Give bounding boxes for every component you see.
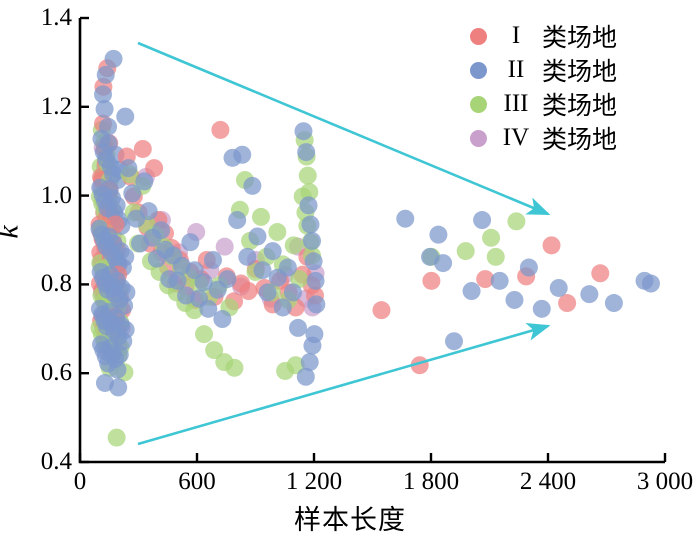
legend-roman-numeral: IV bbox=[498, 124, 534, 152]
scatter-point bbox=[533, 300, 551, 318]
scatter-point bbox=[520, 259, 538, 277]
legend-item[interactable]: I类场地 bbox=[470, 22, 617, 50]
scatter-point bbox=[487, 248, 505, 266]
legend-label: 类场地 bbox=[542, 18, 617, 54]
legend-item[interactable]: III类场地 bbox=[470, 90, 617, 118]
scatter-point bbox=[105, 50, 123, 68]
x-tick-label: 600 bbox=[132, 469, 262, 494]
scatter-point bbox=[96, 100, 114, 118]
scatter-point bbox=[252, 208, 270, 226]
legend-roman-numeral: II bbox=[498, 56, 534, 84]
legend-roman-numeral: III bbox=[498, 90, 534, 118]
legend-item[interactable]: II类场地 bbox=[470, 56, 617, 84]
legend-item[interactable]: IV类场地 bbox=[470, 124, 617, 152]
legend-label: 类场地 bbox=[542, 52, 617, 88]
y-axis-label: k bbox=[0, 225, 26, 238]
scatter-point bbox=[307, 295, 325, 313]
scatter-point bbox=[243, 177, 261, 195]
scatter-point bbox=[507, 212, 525, 230]
scatter-point bbox=[116, 108, 134, 126]
scatter-point bbox=[396, 210, 414, 228]
scatter-point bbox=[119, 159, 137, 177]
scatter-point bbox=[259, 283, 277, 301]
y-tick-label: 0.6 bbox=[2, 360, 72, 385]
scatter-point bbox=[264, 242, 282, 260]
x-tick-label: 1 800 bbox=[366, 469, 496, 494]
scatter-point bbox=[117, 321, 135, 339]
chart-legend: I类场地II类场地III类场地IV类场地 bbox=[470, 22, 617, 152]
scatter-point bbox=[238, 248, 256, 266]
scatter-point bbox=[473, 211, 491, 229]
scatter-point bbox=[268, 223, 286, 241]
scatter-point bbox=[300, 196, 318, 214]
legend-marker-icon bbox=[470, 62, 487, 79]
scatter-point bbox=[558, 294, 576, 312]
x-tick-label: 1 200 bbox=[249, 469, 379, 494]
scatter-point bbox=[117, 283, 135, 301]
scatter-point bbox=[225, 359, 243, 377]
scatter-point bbox=[181, 233, 199, 251]
legend-label: 类场地 bbox=[542, 86, 617, 122]
scatter-point bbox=[543, 236, 561, 254]
x-tick-label: 0 bbox=[15, 469, 145, 494]
scatter-point bbox=[140, 202, 158, 220]
scatter-point bbox=[429, 226, 447, 244]
scatter-point bbox=[248, 227, 266, 245]
scatter-point bbox=[303, 337, 321, 355]
scatter-point bbox=[116, 248, 134, 266]
scatter-point bbox=[482, 229, 500, 247]
lower-trend-arrow bbox=[138, 326, 548, 444]
scatter-point bbox=[195, 325, 213, 343]
legend-roman-numeral: I bbox=[498, 22, 534, 50]
y-tick-label: 1.2 bbox=[2, 94, 72, 119]
scatter-point bbox=[301, 215, 319, 233]
scatter-point bbox=[297, 143, 315, 161]
scatter-point bbox=[111, 346, 129, 364]
x-axis-label: 样本长度 bbox=[0, 498, 700, 537]
scatter-point bbox=[457, 242, 475, 260]
scatter-point bbox=[97, 66, 115, 84]
legend-marker-icon bbox=[470, 28, 487, 45]
y-tick-label: 1.4 bbox=[2, 5, 72, 30]
scatter-point bbox=[307, 272, 325, 290]
scatter-point bbox=[303, 232, 321, 250]
scatter-point bbox=[491, 272, 509, 290]
scatter-point bbox=[605, 294, 623, 312]
scatter-point bbox=[239, 282, 257, 300]
scatter-point bbox=[218, 270, 236, 288]
scatter-point bbox=[213, 310, 231, 328]
y-tick-label: 1.0 bbox=[2, 183, 72, 208]
scatter-point bbox=[372, 301, 390, 319]
scatter-point bbox=[642, 275, 660, 293]
legend-label: 类场地 bbox=[542, 120, 617, 156]
scatter-point bbox=[109, 378, 127, 396]
scatter-point bbox=[422, 272, 440, 290]
scatter-point bbox=[294, 122, 312, 140]
scatter-point bbox=[134, 140, 152, 158]
scatter-point bbox=[152, 221, 170, 239]
scatter-point bbox=[274, 298, 292, 316]
scatter-point bbox=[211, 121, 229, 139]
scatter-point bbox=[228, 211, 246, 229]
scatter-point bbox=[285, 236, 303, 254]
scatter-chart-figure: 0.40.60.81.01.21.406001 2001 8002 4003 0… bbox=[0, 0, 700, 538]
scatter-point bbox=[108, 361, 126, 379]
scatter-point bbox=[305, 252, 323, 270]
scatter-point bbox=[204, 251, 222, 269]
legend-marker-icon bbox=[470, 130, 487, 147]
scatter-point bbox=[233, 146, 251, 164]
scatter-point bbox=[463, 282, 481, 300]
scatter-point bbox=[591, 264, 609, 282]
scatter-point bbox=[135, 172, 153, 190]
x-tick-label: 2 400 bbox=[483, 469, 613, 494]
scatter-point bbox=[108, 429, 126, 447]
legend-marker-icon bbox=[470, 96, 487, 113]
y-tick-label: 0.8 bbox=[2, 271, 72, 296]
scatter-point bbox=[580, 285, 598, 303]
scatter-point bbox=[279, 259, 297, 277]
scatter-point bbox=[289, 319, 307, 337]
scatter-point bbox=[434, 254, 452, 272]
scatter-point bbox=[299, 167, 317, 185]
scatter-point bbox=[445, 332, 463, 350]
scatter-point bbox=[550, 279, 568, 297]
scatter-point bbox=[297, 368, 315, 386]
scatter-point bbox=[505, 291, 523, 309]
scatter-point bbox=[284, 283, 302, 301]
x-tick-label: 3 000 bbox=[600, 469, 700, 494]
